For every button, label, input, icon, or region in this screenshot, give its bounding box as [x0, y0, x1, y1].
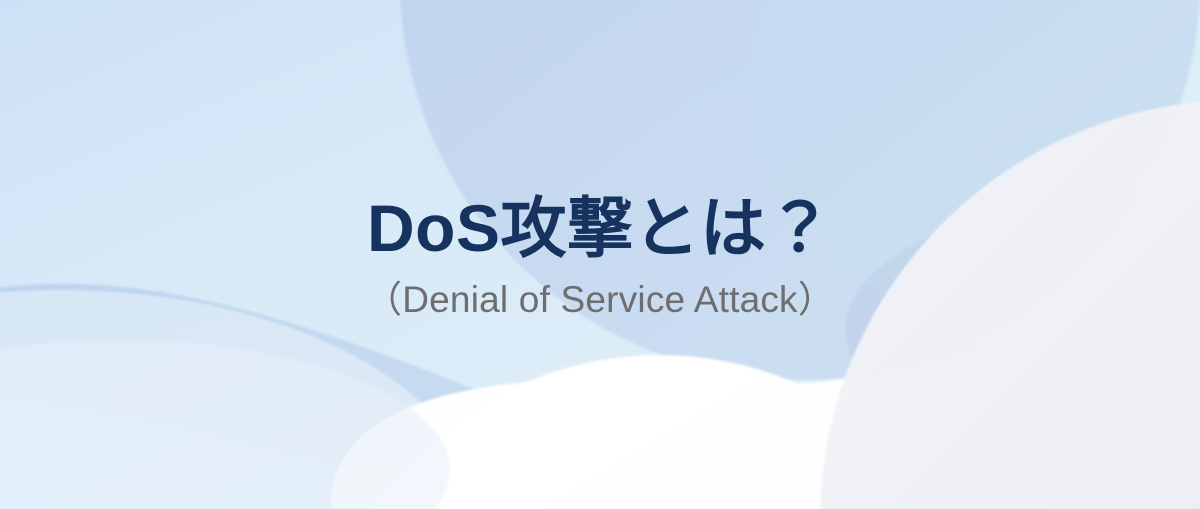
banner-text-block: DoS攻撃とは？ （Denial of Service Attack）: [0, 0, 1200, 509]
page-title: DoS攻撃とは？: [367, 194, 833, 263]
page-subtitle: （Denial of Service Attack）: [365, 279, 835, 322]
hero-banner: DoS攻撃とは？ （Denial of Service Attack）: [0, 0, 1200, 509]
